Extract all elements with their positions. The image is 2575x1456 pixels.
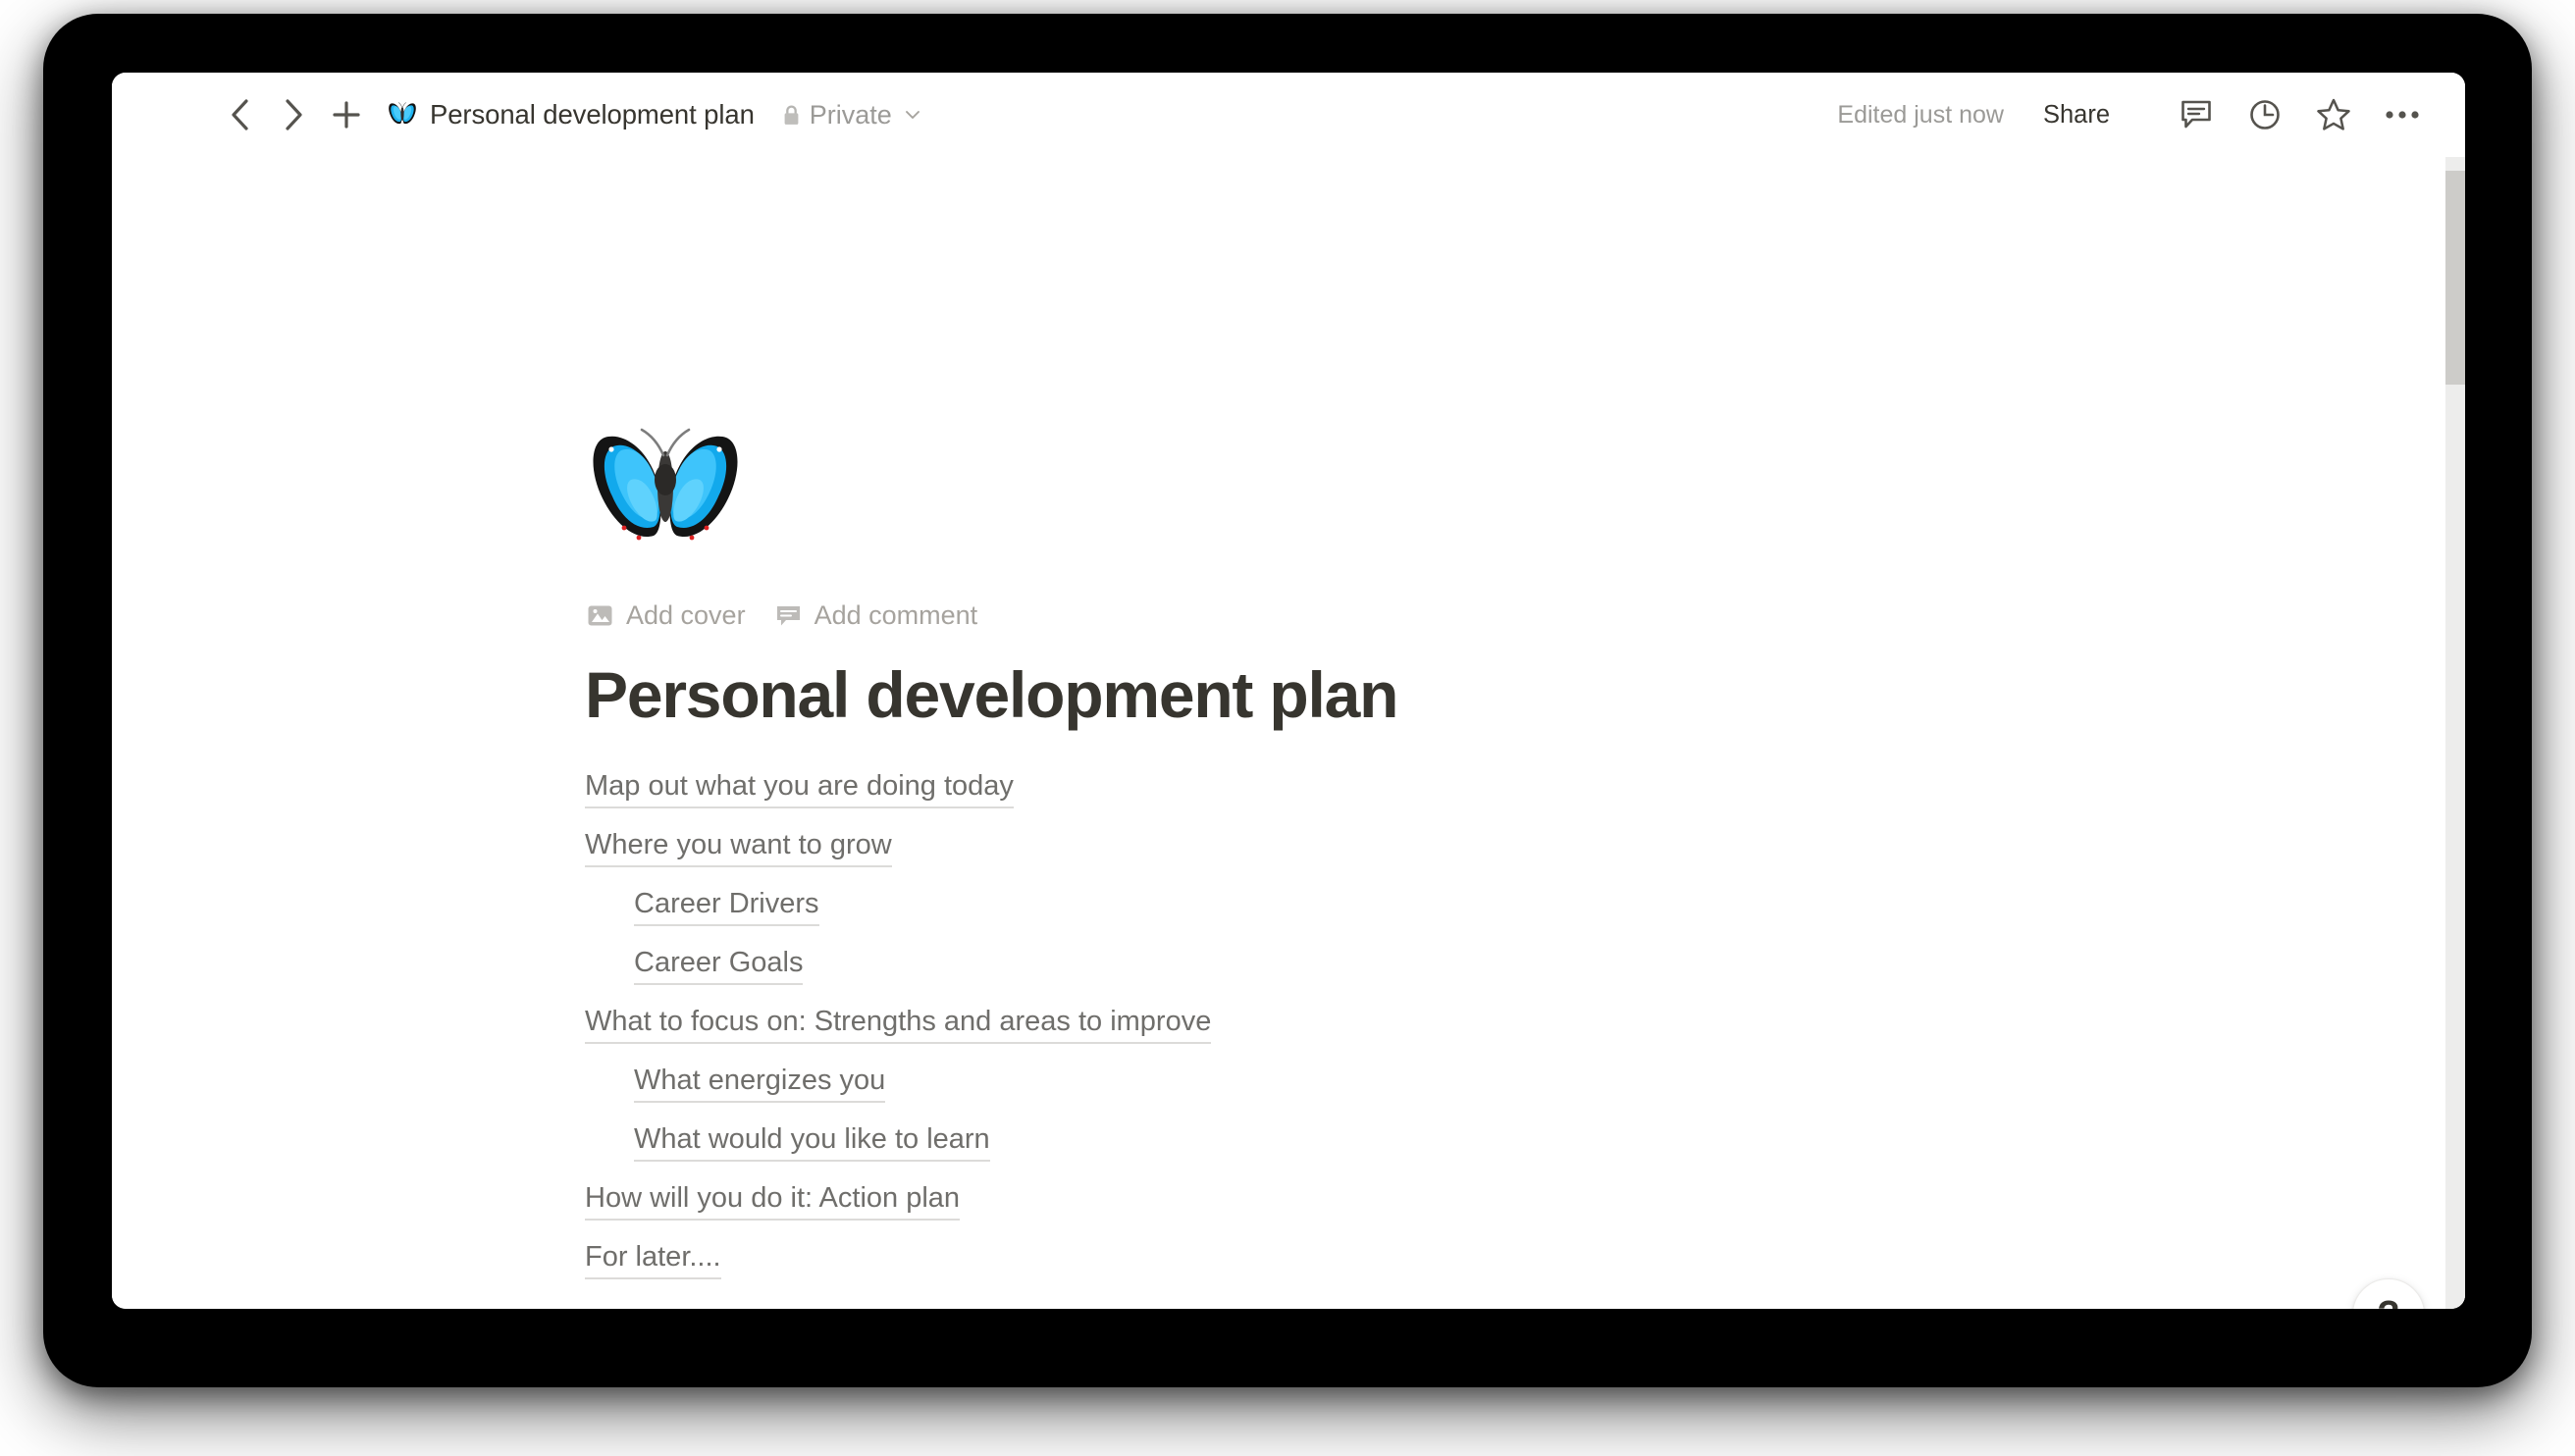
page-body: Add cover Add comment Personal developme… bbox=[112, 157, 2465, 1309]
list-item[interactable]: What would you like to learn bbox=[585, 1114, 1978, 1172]
list-item[interactable]: Where you want to grow bbox=[585, 819, 1978, 878]
page-actions-row: Add cover Add comment bbox=[587, 600, 1978, 631]
star-icon[interactable] bbox=[2314, 95, 2353, 134]
page-link[interactable]: What energizes you bbox=[634, 1065, 885, 1103]
chevron-right-icon[interactable] bbox=[275, 95, 314, 134]
toolbar-left-group: Personal development plan Private bbox=[159, 95, 922, 134]
toolbar-right-group: Edited just now Share bbox=[1837, 95, 2422, 134]
lock-icon bbox=[782, 104, 801, 127]
comment-icon[interactable] bbox=[2177, 95, 2216, 134]
question-mark-icon: ? bbox=[2377, 1296, 2399, 1309]
page-link[interactable]: For later.... bbox=[585, 1241, 721, 1279]
list-item[interactable]: Career Drivers bbox=[585, 878, 1978, 937]
scrollbar-track[interactable] bbox=[2445, 157, 2465, 1309]
list-item[interactable]: How will you do it: Action plan bbox=[585, 1172, 1978, 1231]
plus-icon[interactable] bbox=[328, 96, 365, 133]
page-link[interactable]: Map out what you are doing today bbox=[585, 770, 1014, 808]
page-link[interactable]: Career Drivers bbox=[634, 888, 819, 926]
page-link[interactable]: Career Goals bbox=[634, 947, 803, 985]
add-cover-label: Add cover bbox=[626, 600, 746, 631]
page-title[interactable]: Personal development plan bbox=[585, 658, 1978, 733]
butterfly-emoji bbox=[387, 101, 418, 129]
breadcrumb-title[interactable]: Personal development plan bbox=[430, 99, 755, 130]
hamburger-icon[interactable] bbox=[159, 95, 204, 134]
comment-icon bbox=[775, 602, 802, 629]
list-item[interactable]: Map out what you are doing today bbox=[585, 760, 1978, 819]
share-button[interactable]: Share bbox=[2043, 101, 2110, 130]
scrollbar-thumb[interactable] bbox=[2445, 171, 2465, 385]
privacy-label: Private bbox=[810, 100, 892, 130]
history-clock-icon[interactable] bbox=[2245, 95, 2285, 134]
top-toolbar: Personal development plan Private Edited… bbox=[112, 73, 2465, 157]
list-item[interactable]: For later.... bbox=[585, 1231, 1978, 1290]
help-button[interactable]: ? bbox=[2352, 1278, 2425, 1309]
chevron-left-icon[interactable] bbox=[220, 95, 259, 134]
page-link[interactable]: How will you do it: Action plan bbox=[585, 1182, 960, 1221]
add-comment-button[interactable]: Add comment bbox=[775, 600, 978, 631]
more-options-icon[interactable] bbox=[2383, 95, 2422, 134]
edited-status[interactable]: Edited just now bbox=[1837, 101, 2004, 130]
image-icon bbox=[587, 602, 613, 629]
content-column: Add cover Add comment Personal developme… bbox=[585, 157, 1978, 1309]
privacy-dropdown[interactable]: Private bbox=[782, 100, 922, 130]
butterfly-emoji[interactable] bbox=[585, 426, 746, 567]
page-link-list: Map out what you are doing today Where y… bbox=[585, 760, 1978, 1290]
list-item[interactable]: Career Goals bbox=[585, 937, 1978, 996]
add-cover-button[interactable]: Add cover bbox=[587, 600, 746, 631]
page-link[interactable]: What to focus on: Strengths and areas to… bbox=[585, 1006, 1211, 1044]
page-link[interactable]: Where you want to grow bbox=[585, 829, 892, 867]
list-item[interactable]: What energizes you bbox=[585, 1055, 1978, 1114]
chevron-down-icon bbox=[903, 105, 922, 125]
page-link[interactable]: What would you like to learn bbox=[634, 1123, 990, 1162]
list-item[interactable]: What to focus on: Strengths and areas to… bbox=[585, 996, 1978, 1055]
app-window: Personal development plan Private Edited… bbox=[112, 73, 2465, 1309]
add-comment-label: Add comment bbox=[815, 600, 978, 631]
